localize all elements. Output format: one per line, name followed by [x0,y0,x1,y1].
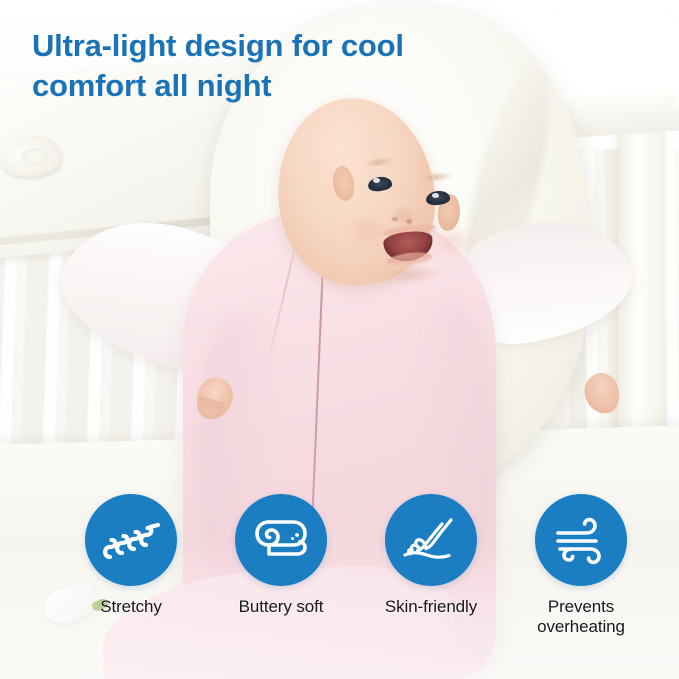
spring-coil-icon [100,516,162,564]
eye-highlight [373,178,380,183]
feature-label: Prevents overheating [537,597,625,638]
feature-item-buttery-soft: Buttery soft [206,494,356,638]
feature-label: Buttery soft [239,597,324,617]
feature-label: Stretchy [100,597,162,617]
baby-nostril [406,219,412,223]
feature-badges-row: Stretchy Buttery soft [0,494,679,638]
page-title: Ultra-light design for cool comfort all … [32,26,502,105]
feature-badge-circle [235,494,327,586]
baby-nostril [392,217,398,221]
product-feature-image: Ultra-light design for cool comfort all … [0,0,679,679]
feature-badge-circle [85,494,177,586]
feature-item-stretchy: Stretchy [56,494,206,638]
feature-item-prevents-overheating: Prevents overheating [506,494,656,638]
baby-hand-right [581,370,624,418]
feature-badge-circle [535,494,627,586]
eye-highlight [432,193,439,198]
wind-airflow-icon [552,515,610,565]
feature-item-skin-friendly: Skin-friendly [356,494,506,638]
hand-touching-fabric-icon [401,515,461,565]
feature-badge-circle [385,494,477,586]
feature-label: Skin-friendly [385,597,477,617]
baby-cheek-right [431,224,475,258]
rolled-fabric-icon [252,518,310,562]
